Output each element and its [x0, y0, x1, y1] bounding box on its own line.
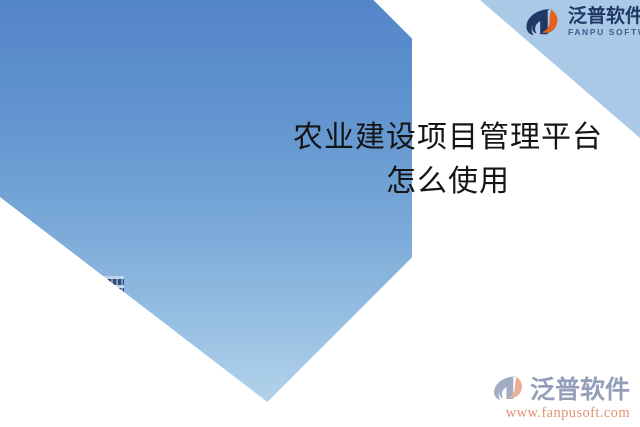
brand-logo-header[interactable]: 泛普软件 FANPU SOFTWARE: [524, 6, 640, 38]
brand-watermark-row: 泛普软件: [492, 370, 630, 406]
brand-watermark-name-cn: 泛普软件: [530, 370, 630, 406]
brand-name-cn: 泛普软件: [568, 7, 640, 26]
brand-logo-text-group: 泛普软件 FANPU SOFTWARE: [568, 7, 640, 37]
fanpu-leaf-logo-icon: [492, 373, 526, 403]
page-title-line-1: 农业建设项目管理平台: [262, 118, 634, 158]
banner-canvas: 农业建设项目管理平台 怎么使用 泛普软件 FANPU SOFTWARE 泛普软件…: [0, 0, 640, 427]
page-title-line-2: 怎么使用: [262, 162, 634, 202]
page-title: 农业建设项目管理平台 怎么使用: [262, 118, 634, 202]
fanpu-leaf-logo-icon: [524, 6, 562, 38]
brand-watermark-url: www.fanpusoft.com: [492, 405, 630, 422]
brand-name-en: FANPU SOFTWARE: [568, 28, 640, 37]
brand-watermark: 泛普软件 www.fanpusoft.com: [492, 370, 630, 422]
